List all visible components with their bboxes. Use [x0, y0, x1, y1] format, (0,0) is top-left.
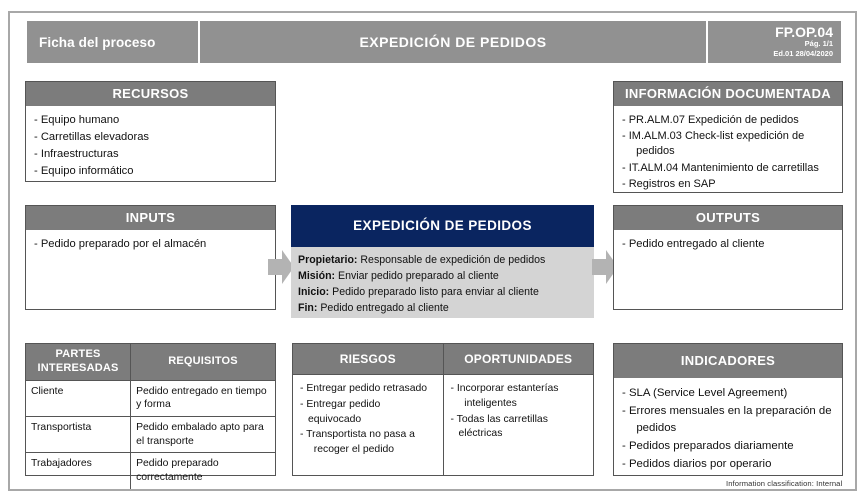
header-page-number: Pág. 1/1	[805, 39, 833, 49]
header-code-block: FP.OP.04 Pág. 1/1 Ed.01 28/04/2020	[708, 21, 841, 63]
panel-inputs: INPUTS - Pedido preparado por el almacén	[25, 205, 276, 310]
panel-riesgos-body: - Entregar pedido retrasado - Entregar p…	[293, 375, 444, 475]
list-item: - Pedido entregado al cliente	[622, 237, 834, 253]
list-item: - Carretillas elevadoras	[34, 130, 267, 146]
list-item: - IM.ALM.03 Check-list expedición de ped…	[622, 129, 834, 159]
proceso-field-label: Misión:	[298, 270, 335, 282]
panel-proceso-body: Propietario: Responsable de expedición d…	[291, 247, 594, 318]
table-row: Trabajadores Pedido preparado correctame…	[26, 453, 275, 489]
list-item: - Equipo informático	[34, 164, 267, 180]
header-document-code: FP.OP.04	[775, 25, 833, 40]
cell-parte: Transportista	[26, 416, 131, 452]
cell-requisito: Pedido entregado en tiempo y forma	[131, 380, 275, 416]
document-header: Ficha del proceso EXPEDICIÓN DE PEDIDOS …	[27, 21, 841, 63]
list-item: - Entregar pedido retrasado	[300, 382, 436, 397]
panel-indicadores-title: INDICADORES	[614, 344, 842, 378]
panel-inputs-title: INPUTS	[26, 206, 275, 230]
header-process-title-text: EXPEDICIÓN DE PEDIDOS	[359, 34, 546, 50]
header-sheet-label: Ficha del proceso	[27, 21, 200, 63]
list-item: - Todas las carretillas eléctricas	[451, 413, 587, 443]
panel-recursos-body: - Equipo humano - Carretillas elevadoras…	[26, 106, 275, 187]
list-item: - Equipo humano	[34, 113, 267, 129]
cell-parte: Cliente	[26, 380, 131, 416]
riesgos-oportunidades-header: RIESGOS OPORTUNIDADES	[293, 344, 593, 374]
panel-indicadores: INDICADORES - SLA (Service Level Agreeme…	[613, 343, 843, 476]
list-item: - Pedidos diarios por operario	[622, 456, 834, 473]
panel-informacion-documentada: INFORMACIÓN DOCUMENTADA - PR.ALM.07 Expe…	[613, 81, 843, 193]
cell-requisito: Pedido embalado apto para el transporte	[131, 416, 275, 452]
proceso-field-propietario: Propietario: Responsable de expedición d…	[298, 252, 587, 268]
panel-informacion-documentada-title: INFORMACIÓN DOCUMENTADA	[614, 82, 842, 106]
panel-informacion-documentada-body: - PR.ALM.07 Expedición de pedidos - IM.A…	[614, 106, 842, 199]
proceso-field-value: Responsable de expedición de pedidos	[357, 254, 545, 266]
riesgos-oportunidades-body: - Entregar pedido retrasado - Entregar p…	[293, 374, 593, 475]
list-item: - SLA (Service Level Agreement)	[622, 385, 834, 402]
panel-outputs: OUTPUTS - Pedido entregado al cliente	[613, 205, 843, 310]
partes-interesadas-table: PARTES INTERESADAS REQUISITOS Cliente Pe…	[26, 344, 275, 489]
list-item: - Infraestructuras	[34, 147, 267, 163]
list-item: - Entregar pedido equivocado	[300, 398, 436, 428]
proceso-field-inicio: Inicio: Pedido preparado listo para envi…	[298, 284, 587, 300]
list-item: - Incorporar estanterías inteligentes	[451, 382, 587, 412]
list-item: - Errores mensuales en la preparación de…	[622, 403, 834, 437]
table-header-row: PARTES INTERESADAS REQUISITOS	[26, 344, 275, 380]
proceso-field-label: Propietario:	[298, 254, 357, 266]
header-process-title: EXPEDICIÓN DE PEDIDOS	[200, 21, 708, 63]
proceso-field-value: Pedido preparado listo para enviar al cl…	[329, 286, 539, 298]
list-item: - Pedidos preparados diariamente	[622, 438, 834, 455]
column-header-partes: PARTES INTERESADAS	[26, 344, 131, 380]
table-partes-interesadas: PARTES INTERESADAS REQUISITOS Cliente Pe…	[25, 343, 276, 476]
column-header-requisitos: REQUISITOS	[131, 344, 275, 380]
cell-parte: Trabajadores	[26, 453, 131, 489]
panel-indicadores-body: - SLA (Service Level Agreement) - Errore…	[614, 378, 842, 481]
list-item: - Pedido preparado por el almacén	[34, 237, 267, 253]
panel-recursos-title: RECURSOS	[26, 82, 275, 106]
panel-proceso-central: EXPEDICIÓN DE PEDIDOS Propietario: Respo…	[291, 205, 594, 318]
proceso-field-mision: Misión: Enviar pedido preparado al clien…	[298, 268, 587, 284]
table-row: Cliente Pedido entregado en tiempo y for…	[26, 380, 275, 416]
panel-riesgos-oportunidades: RIESGOS OPORTUNIDADES - Entregar pedido …	[292, 343, 594, 476]
cell-requisito: Pedido preparado correctamente	[131, 453, 275, 489]
proceso-field-value: Pedido entregado al cliente	[317, 302, 448, 314]
proceso-field-label: Inicio:	[298, 286, 329, 298]
panel-proceso-title: EXPEDICIÓN DE PEDIDOS	[291, 205, 594, 247]
panel-outputs-body: - Pedido entregado al cliente	[614, 230, 842, 260]
proceso-field-fin: Fin: Pedido entregado al cliente	[298, 300, 587, 316]
header-edition-date: Ed.01 28/04/2020	[773, 49, 833, 59]
table-row: Transportista Pedido embalado apto para …	[26, 416, 275, 452]
panel-riesgos-title: RIESGOS	[293, 344, 444, 374]
list-item: - PR.ALM.07 Expedición de pedidos	[622, 113, 834, 128]
list-item: - Registros en SAP	[622, 177, 834, 192]
panel-inputs-body: - Pedido preparado por el almacén	[26, 230, 275, 260]
panel-oportunidades-title: OPORTUNIDADES	[444, 344, 594, 374]
panel-outputs-title: OUTPUTS	[614, 206, 842, 230]
list-item: - IT.ALM.04 Mantenimiento de carretillas	[622, 161, 834, 176]
proceso-field-value: Enviar pedido preparado al cliente	[335, 270, 499, 282]
proceso-field-label: Fin:	[298, 302, 317, 314]
process-sheet-page: Ficha del proceso EXPEDICIÓN DE PEDIDOS …	[0, 0, 866, 503]
panel-recursos: RECURSOS - Equipo humano - Carretillas e…	[25, 81, 276, 182]
header-sheet-label-text: Ficha del proceso	[39, 35, 155, 50]
information-classification-footer: Information classification: Internal	[726, 479, 842, 488]
list-item: - Transportista no pasa a recoger el ped…	[300, 428, 436, 458]
panel-oportunidades-body: - Incorporar estanterías inteligentes - …	[444, 375, 594, 475]
